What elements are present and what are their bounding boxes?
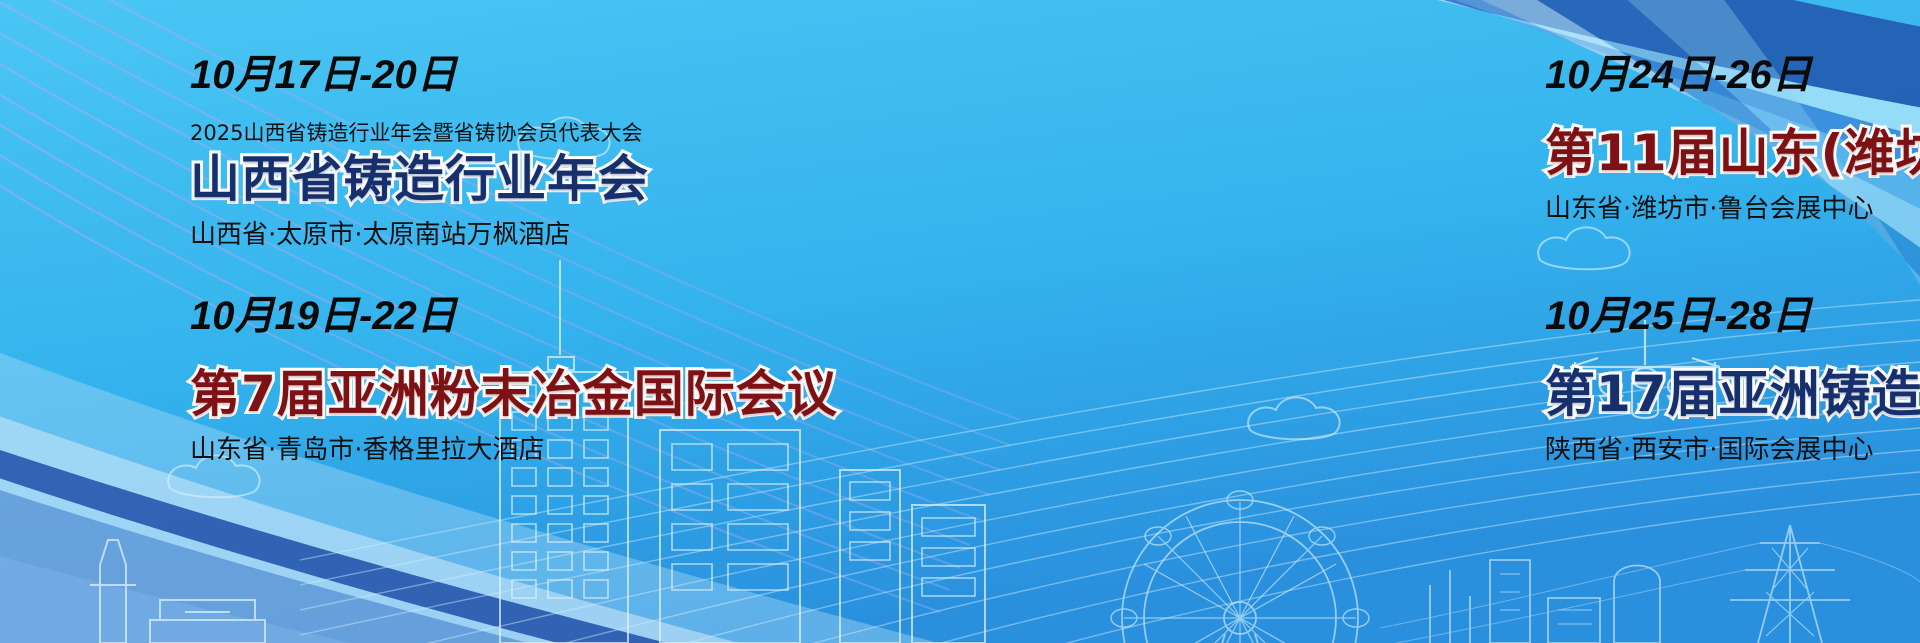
event-card-asian-powder-metallurgy-conference[interactable]: 10月19日-22日 第7届亚洲粉末冶金国际会议 山东省·青岛市·香格里拉大酒店 bbox=[0, 321, 760, 643]
event-title: 第17届亚洲铸造会议 bbox=[1545, 366, 1920, 422]
event-title: 第7届亚洲粉末冶金国际会议 bbox=[190, 366, 838, 422]
event-banner: 10月17日-20日 2025山西省铸造行业年会暨省铸协会员代表大会 山西省铸造… bbox=[0, 0, 1920, 643]
event-venue: 山东省·青岛市·香格里拉大酒店 bbox=[190, 436, 838, 465]
event-subtitle: 2025山西省铸造行业年会暨省铸协会员代表大会 bbox=[190, 122, 649, 145]
event-title: 第11届山东(潍坊)铸造工业展览会 bbox=[1545, 125, 1920, 181]
event-venue: 陕西省·西安市·国际会展中心 bbox=[1545, 436, 1920, 465]
event-date: 10月25日-28日 bbox=[1545, 296, 1920, 336]
event-date: 10月19日-22日 bbox=[190, 296, 838, 336]
event-card-asian-foundry-congress[interactable]: 10月25日-28日 第17届亚洲铸造会议 陕西省·西安市·国际会展中心 bbox=[760, 321, 1920, 643]
event-card-shandong-weifang-foundry-expo[interactable]: 10月24日-26日 第11届山东(潍坊)铸造工业展览会 山东省·潍坊市·鲁台会… bbox=[760, 0, 1920, 321]
event-date: 10月17日-20日 bbox=[190, 55, 649, 95]
event-venue: 山西省·太原市·太原南站万枫酒店 bbox=[190, 221, 649, 250]
event-card-shanxi-foundry-annual-meeting[interactable]: 10月17日-20日 2025山西省铸造行业年会暨省铸协会员代表大会 山西省铸造… bbox=[0, 0, 760, 321]
event-title: 山西省铸造行业年会 bbox=[190, 151, 649, 207]
event-date: 10月24日-26日 bbox=[1545, 55, 1920, 95]
event-list: 10月17日-20日 2025山西省铸造行业年会暨省铸协会员代表大会 山西省铸造… bbox=[0, 0, 1920, 643]
event-venue: 山东省·潍坊市·鲁台会展中心 bbox=[1545, 195, 1920, 224]
